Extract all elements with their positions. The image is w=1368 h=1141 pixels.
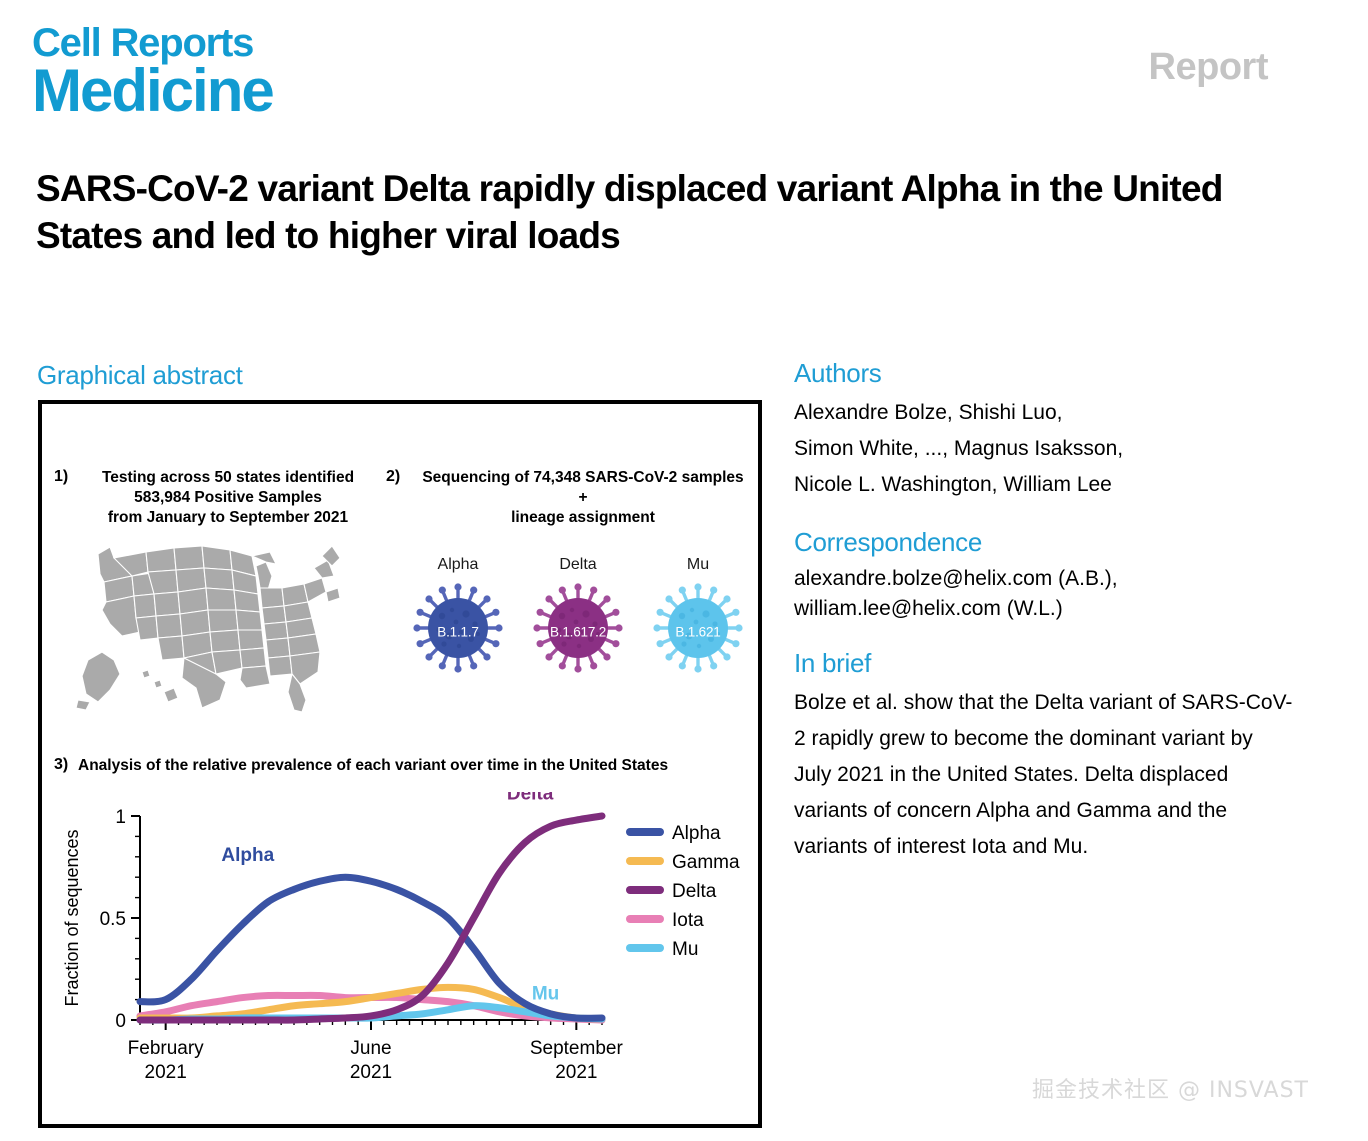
y-axis-tick-label: 1 — [115, 807, 126, 828]
article-type-label: Report — [1149, 46, 1268, 89]
virus-name-label: Mu — [640, 556, 756, 574]
in-brief-heading: In brief — [794, 648, 1294, 679]
panel-1-caption: Testing across 50 states identified 583,… — [78, 468, 378, 528]
panel-2-line2: + — [578, 489, 587, 506]
chart-annotation-delta: Delta — [507, 792, 554, 805]
x-axis-tick-label-month: June — [350, 1038, 391, 1059]
correspondence-emails: alexandre.bolze@helix.com (A.B.), willia… — [794, 564, 1294, 624]
x-axis-tick-label-month: February — [128, 1038, 205, 1059]
graphical-abstract-figure: 1) Testing across 50 states identified 5… — [38, 400, 762, 1128]
article-metadata-column: Authors Alexandre Bolze, Shishi Luo, Sim… — [794, 358, 1294, 879]
panel-1-line1: Testing across 50 states identified — [102, 469, 354, 486]
panel-3-number: 3) — [54, 756, 68, 774]
legend-label-delta: Delta — [672, 881, 717, 902]
chart-annotation-alpha: Alpha — [221, 845, 274, 866]
authors-block: Authors Alexandre Bolze, Shishi Luo, Sim… — [794, 358, 1294, 503]
in-brief-block: In brief Bolze et al. show that the Delt… — [794, 648, 1294, 865]
panel-3-caption: Analysis of the relative prevalence of e… — [78, 756, 758, 776]
authors-heading: Authors — [794, 358, 1294, 389]
virus-variant-row: AlphaB.1.1.7DeltaB.1.617.2MuB.1.621 — [400, 556, 756, 685]
authors-line1: Alexandre Bolze, Shishi Luo, — [794, 401, 1063, 424]
chart-annotation-mu: Mu — [532, 984, 559, 1005]
virus-particle-icon: B.1.1.7 — [400, 576, 516, 685]
correspondence-email-2[interactable]: william.lee@helix.com (W.L.) — [794, 594, 1294, 624]
watermark-text: 掘金技术社区 @ INSVAST — [1032, 1072, 1309, 1104]
virus-particle-icon: B.1.621 — [640, 576, 756, 685]
legend-label-iota: Iota — [672, 910, 704, 931]
x-axis-tick-label-year: 2021 — [145, 1062, 187, 1082]
x-axis-tick-label-year: 2021 — [555, 1062, 597, 1082]
panel-2-number: 2) — [386, 468, 400, 486]
page-title: SARS-CoV-2 variant Delta rapidly displac… — [36, 165, 1266, 259]
correspondence-email-1[interactable]: alexandre.bolze@helix.com (A.B.), — [794, 564, 1294, 594]
variant-prevalence-chart: 00.51February2021June2021September2021Fr… — [52, 792, 752, 1082]
virus-name-label: Delta — [520, 556, 636, 574]
legend-label-mu: Mu — [672, 939, 698, 960]
virus-name-label: Alpha — [400, 556, 516, 574]
graphical-abstract-heading: Graphical abstract — [37, 360, 243, 391]
x-axis-tick-label-month: September — [530, 1038, 624, 1059]
y-axis-tick-label: 0.5 — [100, 909, 126, 930]
panel-2-line1: Sequencing of 74,348 SARS-CoV-2 samples — [422, 469, 743, 486]
panel-2-line3: lineage assignment — [511, 509, 655, 526]
panel-1-line3: from January to September 2021 — [108, 509, 348, 526]
authors-line2: Simon White, ..., Magnus Isaksson, — [794, 437, 1123, 460]
legend-label-alpha: Alpha — [672, 823, 721, 844]
panel-2-caption: Sequencing of 74,348 SARS-CoV-2 samples … — [410, 468, 756, 528]
virus-delta: DeltaB.1.617.2 — [520, 556, 636, 685]
legend-label-gamma: Gamma — [672, 852, 740, 873]
panel-1-number: 1) — [54, 468, 68, 486]
in-brief-text: Bolze et al. show that the Delta variant… — [794, 685, 1294, 865]
y-axis-title: Fraction of sequences — [62, 829, 82, 1006]
journal-name-line2: Medicine — [32, 60, 1332, 122]
virus-particle-icon: B.1.617.2 — [520, 576, 636, 685]
virus-mu: MuB.1.621 — [640, 556, 756, 685]
journal-masthead: Cell Reports Medicine — [32, 22, 1332, 142]
united-states-map-icon — [70, 532, 382, 732]
authors-line3: Nicole L. Washington, William Lee — [794, 473, 1112, 496]
correspondence-block: Correspondence alexandre.bolze@helix.com… — [794, 527, 1294, 624]
authors-list: Alexandre Bolze, Shishi Luo, Simon White… — [794, 395, 1294, 503]
x-axis-tick-label-year: 2021 — [350, 1062, 392, 1082]
correspondence-heading: Correspondence — [794, 527, 1294, 558]
panel-1-line2: 583,984 Positive Samples — [134, 489, 322, 506]
y-axis-tick-label: 0 — [115, 1011, 126, 1032]
virus-alpha: AlphaB.1.1.7 — [400, 556, 516, 685]
